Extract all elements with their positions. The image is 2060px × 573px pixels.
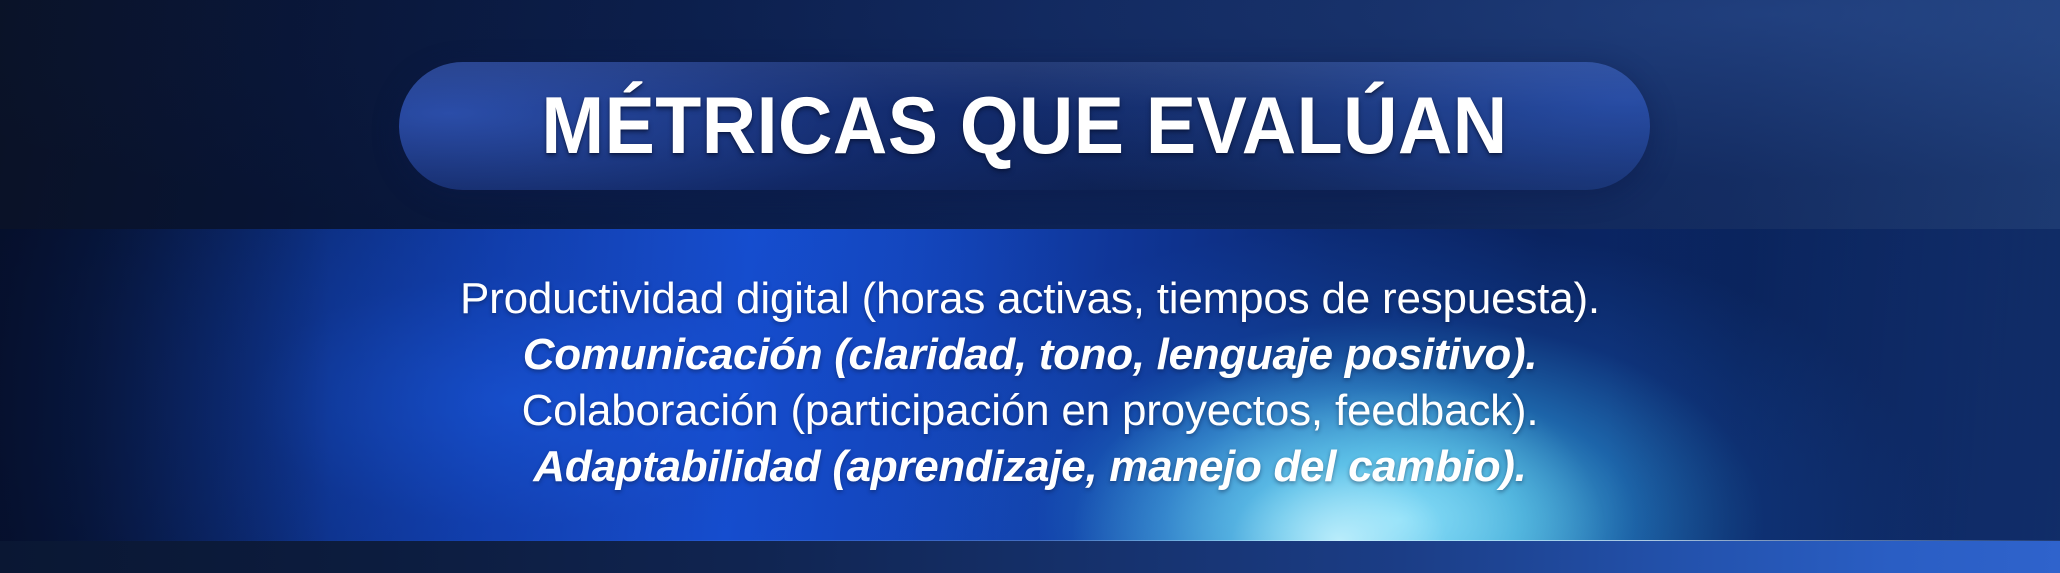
metrics-list-item-1: Productividad digital (horas activas, ti…	[0, 271, 2060, 327]
metrics-list-item-2: Comunicación (claridad, tono, lenguaje p…	[0, 327, 2060, 383]
background-band-bottom	[0, 541, 2060, 573]
metrics-list-item-3: Colaboración (participación en proyectos…	[0, 383, 2060, 439]
page-title: MÉTRICAS QUE EVALÚAN	[541, 86, 1507, 167]
slide-canvas: MÉTRICAS QUE EVALÚAN Productividad digit…	[0, 0, 2060, 573]
title-pill: MÉTRICAS QUE EVALÚAN	[399, 62, 1650, 190]
metrics-list-item-4: Adaptabilidad (aprendizaje, manejo del c…	[0, 439, 2060, 495]
metrics-list: Productividad digital (horas activas, ti…	[0, 271, 2060, 495]
